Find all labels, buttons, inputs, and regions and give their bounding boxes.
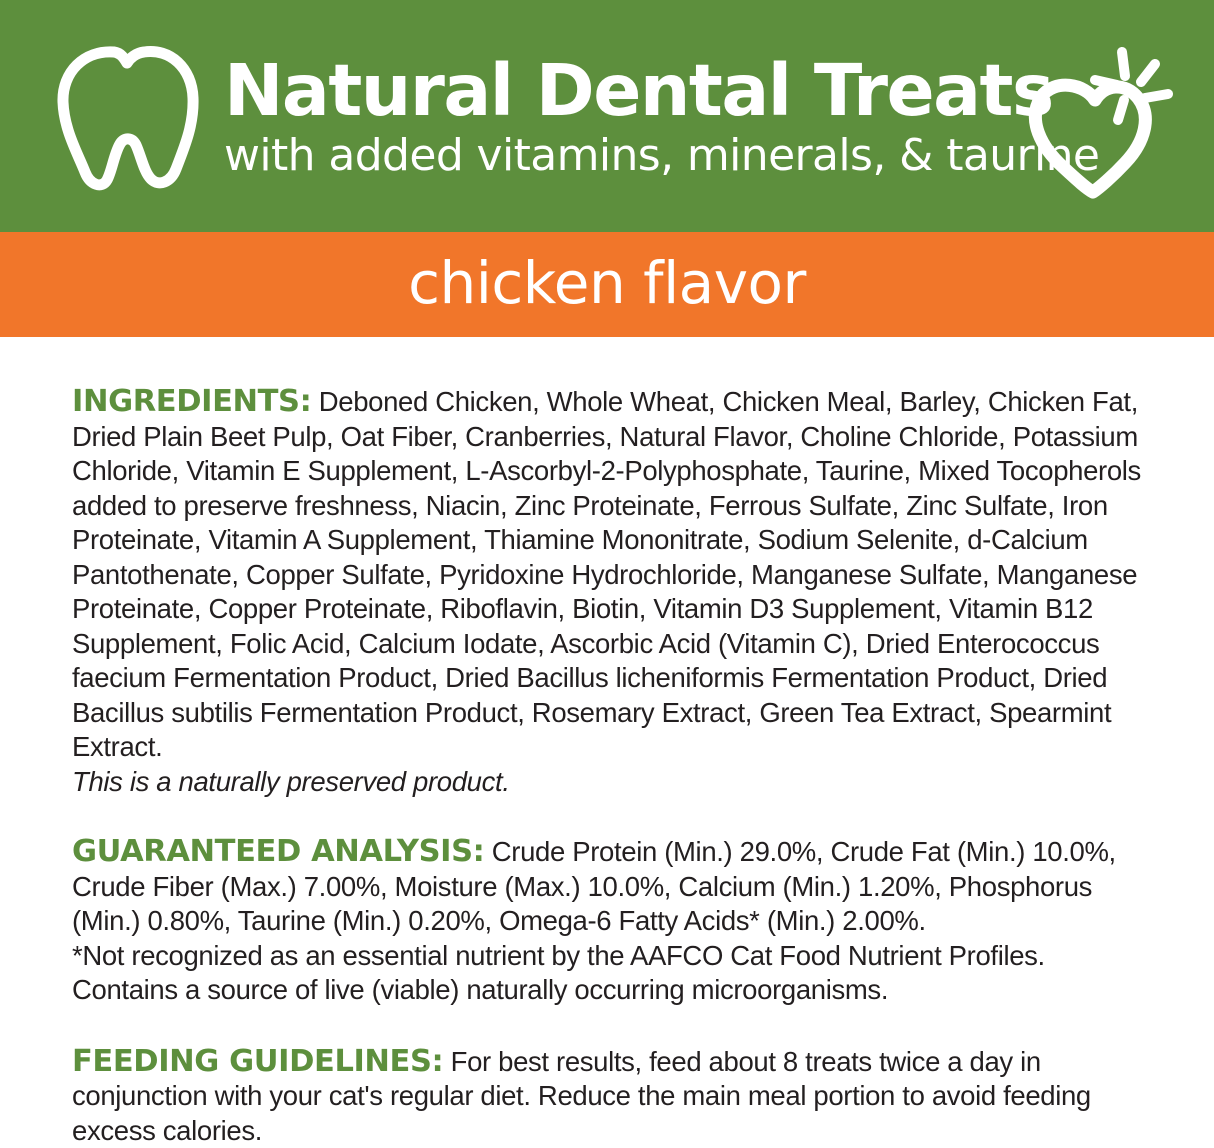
page-subtitle: with added vitamins, minerals, & taurine <box>224 131 994 180</box>
ingredients-body: Deboned Chicken, Whole Wheat, Chicken Me… <box>72 386 1141 762</box>
header-banner: Natural Dental Treats with added vitamin… <box>0 0 1214 232</box>
microorganisms-note: Contains a source of live (viable) natur… <box>72 973 1142 1008</box>
tooth-icon <box>52 36 202 196</box>
feeding-spacer <box>443 1046 450 1077</box>
ingredients-section: INGREDIENTS: Deboned Chicken, Whole Whea… <box>72 385 1142 799</box>
aafco-footnote: *Not recognized as an essential nutrient… <box>72 939 1142 974</box>
sparkling-heart-icon <box>1005 24 1185 204</box>
guaranteed-analysis-heading: GUARANTEED ANALYSIS: <box>72 834 484 869</box>
title-block: Natural Dental Treats with added vitamin… <box>224 56 994 181</box>
label-content: INGREDIENTS: Deboned Chicken, Whole Whea… <box>0 385 1214 1148</box>
feeding-guidelines-section: FEEDING GUIDELINES: For best results, fe… <box>72 1045 1142 1148</box>
flavor-label: chicken flavor <box>408 254 806 316</box>
ingredients-preservation-note: This is a naturally preserved product. <box>72 765 1142 800</box>
ingredients-heading: INGREDIENTS: <box>72 384 311 419</box>
guaranteed-analysis-section: GUARANTEED ANALYSIS: Crude Protein (Min.… <box>72 835 1142 1008</box>
flavor-banner: chicken flavor <box>0 232 1214 337</box>
analysis-spacer <box>484 836 491 867</box>
feeding-guidelines-heading: FEEDING GUIDELINES: <box>72 1044 443 1079</box>
ingredients-spacer <box>311 386 318 417</box>
header-inner: Natural Dental Treats with added vitamin… <box>0 0 1214 232</box>
page-title: Natural Dental Treats <box>224 56 994 126</box>
